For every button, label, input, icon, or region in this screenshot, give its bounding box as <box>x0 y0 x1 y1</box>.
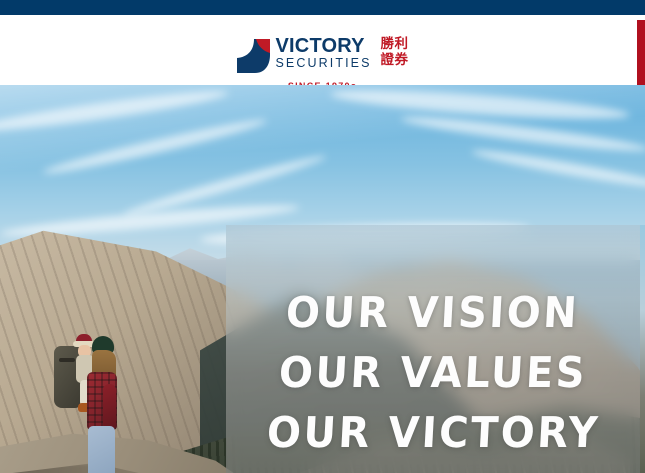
site-header: VICTORY SECURITIES 勝利 證券 SINCE 1970s <box>0 15 645 85</box>
hiker-with-child-figure <box>54 328 118 473</box>
hero-slogan-line-3: OUR VICTORY <box>265 409 600 456</box>
backpack-strap <box>59 358 75 362</box>
top-navy-bar <box>0 0 645 15</box>
logo-securities-text: SECURITIES <box>276 56 372 71</box>
cloud-streak <box>330 85 631 124</box>
victory-swoosh-icon <box>233 37 271 75</box>
hero-frosted-overlay: OUR VISION OUR VALUES OUR VICTORY <box>226 225 640 473</box>
hero-slogan: OUR VISION OUR VALUES OUR VICTORY <box>226 225 640 473</box>
logo-wordmark: VICTORY SECURITIES <box>276 37 372 71</box>
hiker-arm <box>103 384 116 430</box>
hiker-jeans <box>88 426 115 473</box>
cloud-streak <box>41 114 268 178</box>
hero-slogan-line-1: OUR VISION <box>285 289 581 336</box>
logo-chinese-line1: 勝利 <box>381 37 409 53</box>
hero-banner: OUR VISION OUR VALUES OUR VICTORY <box>0 85 645 473</box>
hero-slogan-line-2: OUR VALUES <box>278 349 589 396</box>
site-logo[interactable]: VICTORY SECURITIES 勝利 證券 SINCE 1970s <box>233 37 413 92</box>
hero-right-sliver <box>640 225 645 473</box>
cloud-streak <box>400 112 645 156</box>
logo-victory-text: VICTORY <box>276 37 372 56</box>
logo-top-row: VICTORY SECURITIES 勝利 證券 <box>233 37 413 77</box>
cloud-streak <box>0 85 230 137</box>
logo-chinese-name: 勝利 證券 <box>381 37 409 68</box>
logo-chinese-line2: 證券 <box>381 53 409 69</box>
page-root: VICTORY SECURITIES 勝利 證券 SINCE 1970s <box>0 0 645 473</box>
cloud-streak <box>470 146 645 193</box>
header-red-accent[interactable] <box>637 20 645 85</box>
